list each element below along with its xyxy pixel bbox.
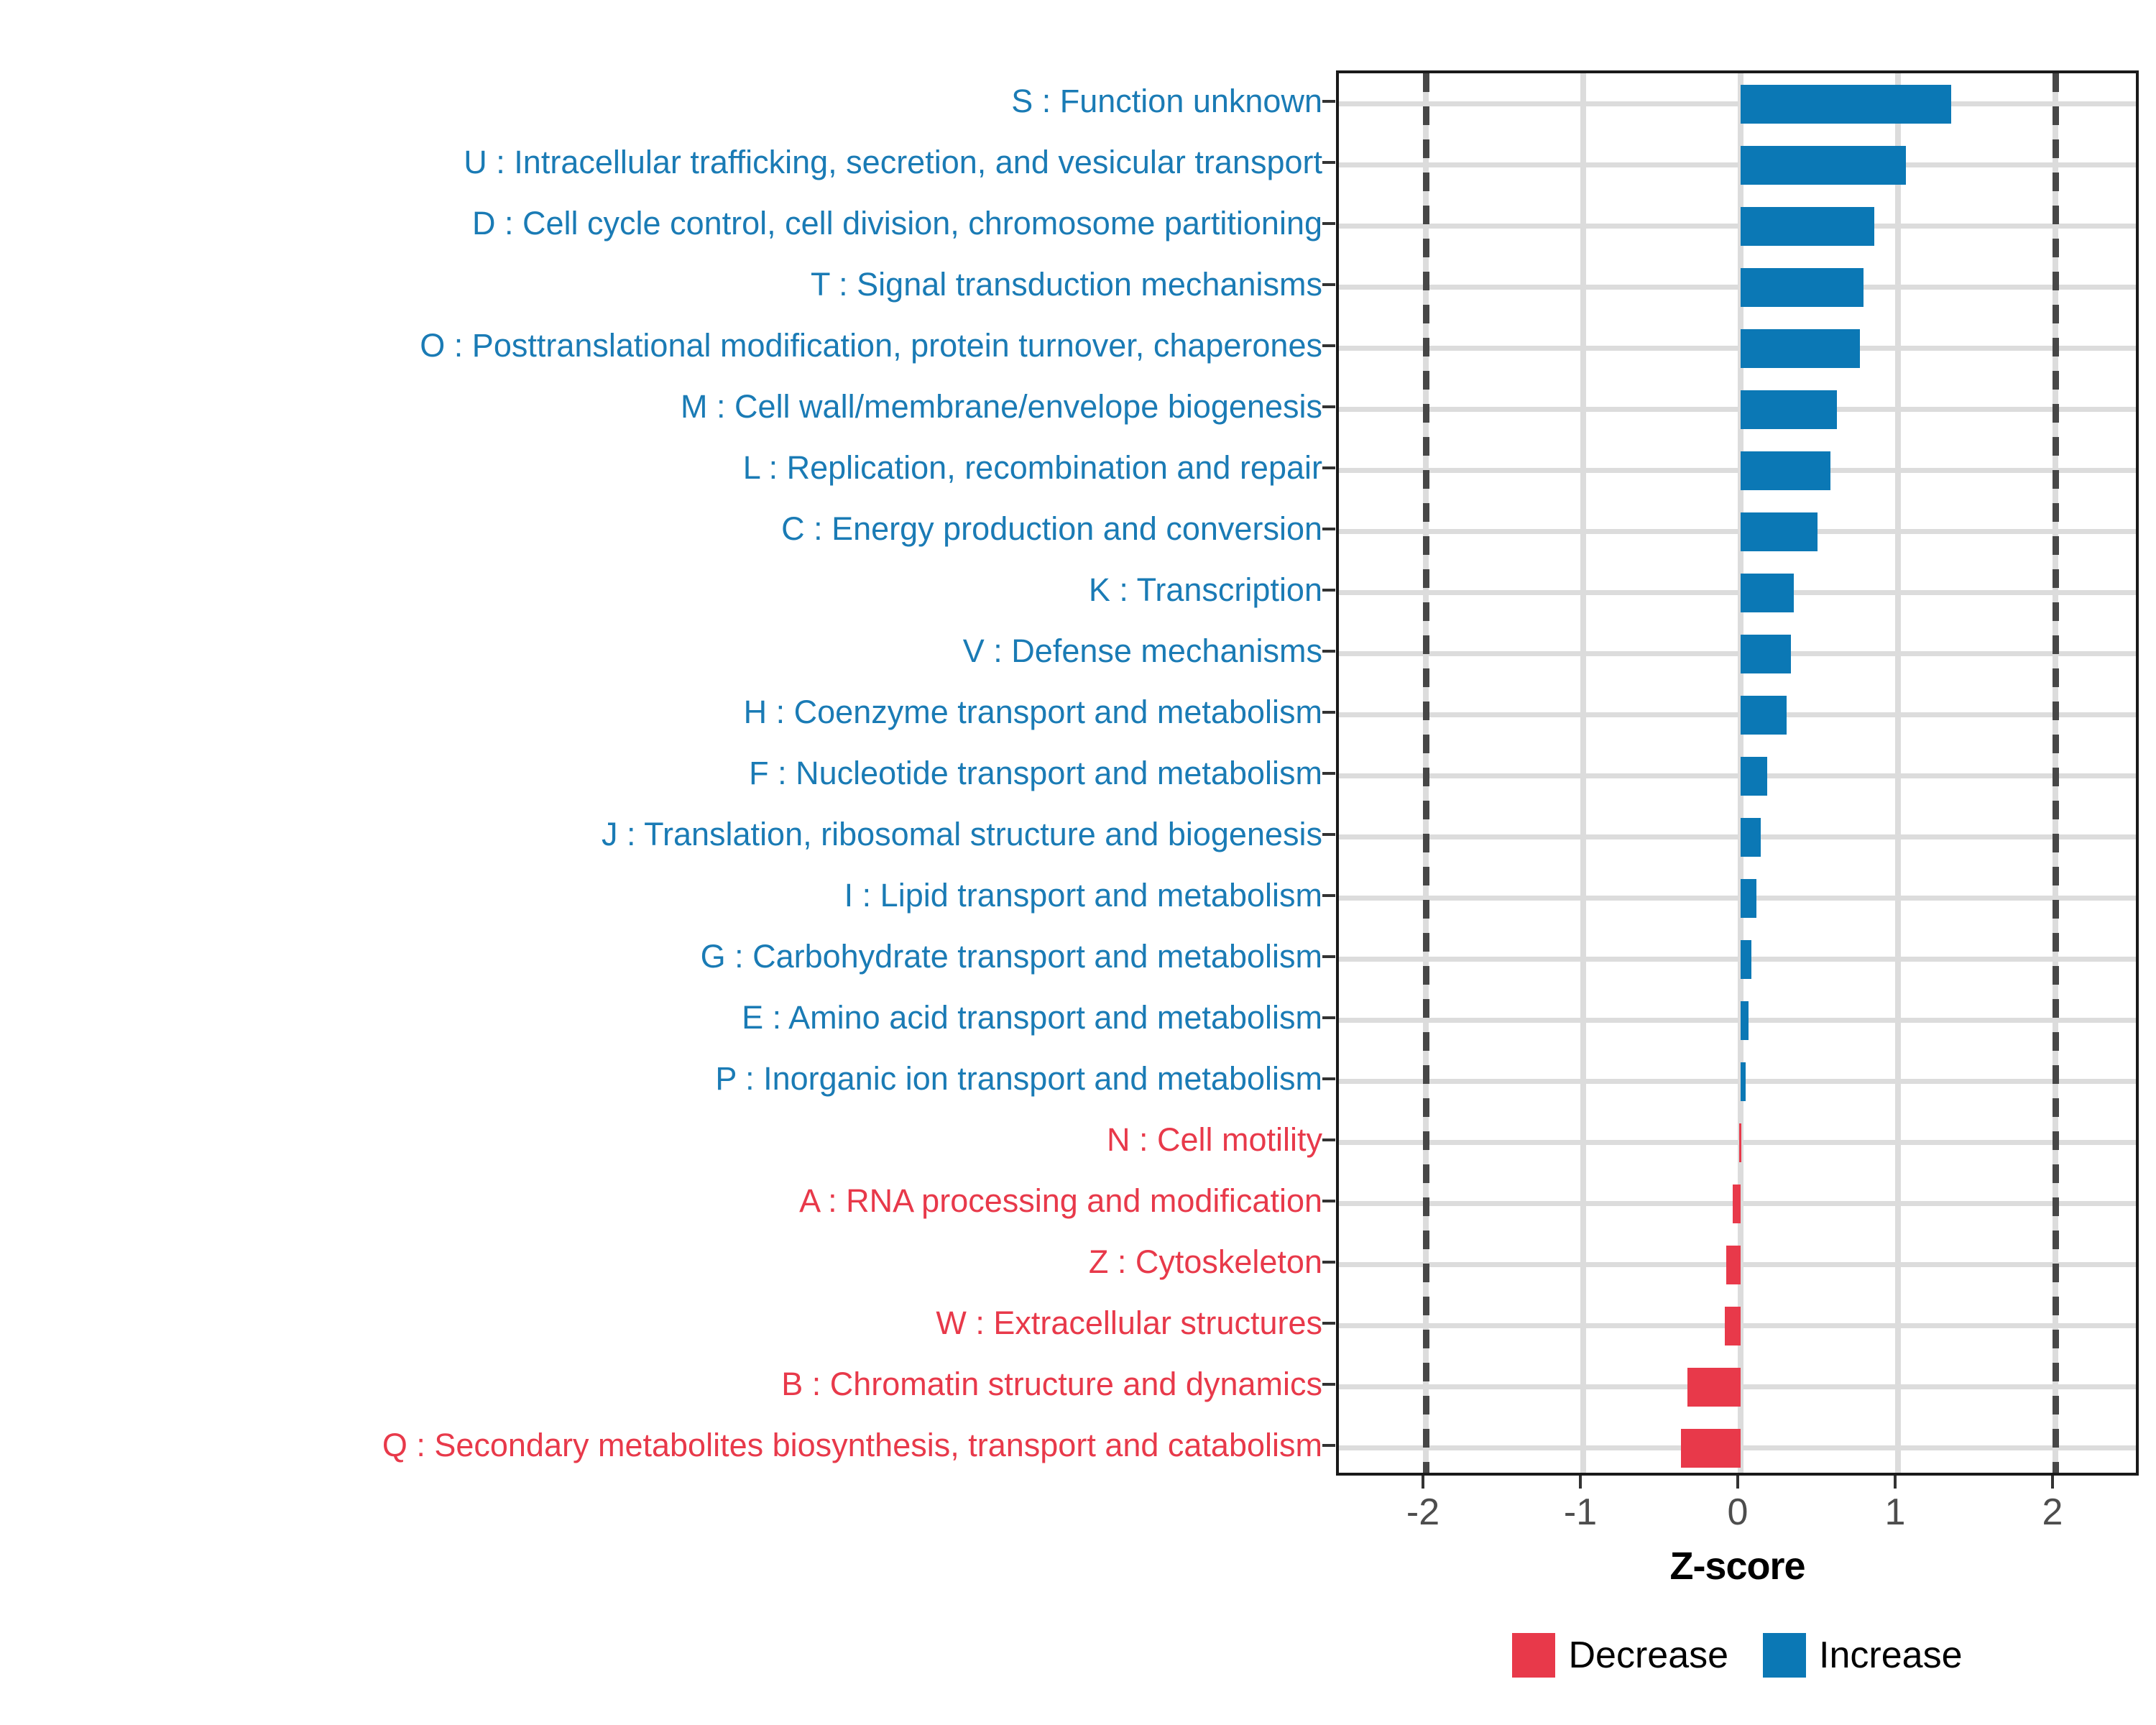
category-label: Q : Secondary metabolites biosynthesis, … bbox=[0, 1427, 1322, 1464]
category-label: O : Posttranslational modification, prot… bbox=[0, 327, 1322, 364]
y-axis-tick bbox=[1322, 1444, 1335, 1447]
y-axis-tick bbox=[1322, 1322, 1335, 1325]
y-axis-tick bbox=[1322, 466, 1335, 469]
bar bbox=[1687, 1368, 1741, 1407]
y-axis-tick bbox=[1322, 711, 1335, 714]
y-axis-tick bbox=[1322, 650, 1335, 653]
bar bbox=[1741, 757, 1767, 796]
category-label: Z : Cytoskeleton bbox=[0, 1243, 1322, 1281]
y-axis-tick bbox=[1322, 405, 1335, 408]
bar bbox=[1741, 574, 1794, 612]
y-axis-tick bbox=[1322, 222, 1335, 225]
bar bbox=[1741, 879, 1756, 918]
y-axis-tick bbox=[1322, 1016, 1335, 1019]
bar bbox=[1741, 818, 1761, 857]
reference-line bbox=[1423, 73, 1429, 1473]
gridline-vertical bbox=[1895, 73, 1901, 1473]
bar bbox=[1725, 1307, 1741, 1345]
category-label: B : Chromatin structure and dynamics bbox=[0, 1366, 1322, 1403]
legend-label: Increase bbox=[1819, 1634, 1962, 1677]
x-axis-tick-label: 2 bbox=[1995, 1491, 2110, 1534]
category-label: N : Cell motility bbox=[0, 1121, 1322, 1159]
bar bbox=[1733, 1184, 1741, 1223]
x-axis-title: Z-score bbox=[1336, 1544, 2139, 1588]
plot-panel bbox=[1336, 70, 2139, 1476]
legend-item[interactable]: Increase bbox=[1763, 1633, 1962, 1678]
y-axis-tick bbox=[1322, 1077, 1335, 1080]
bar bbox=[1741, 268, 1864, 307]
category-label: I : Lipid transport and metabolism bbox=[0, 877, 1322, 914]
bar bbox=[1741, 85, 1951, 124]
chart-legend: DecreaseIncrease bbox=[1336, 1633, 2139, 1678]
category-label: M : Cell wall/membrane/envelope biogenes… bbox=[0, 388, 1322, 425]
chart-figure: S : Function unknownU : Intracellular tr… bbox=[0, 0, 2156, 1725]
y-axis-tick bbox=[1322, 1383, 1335, 1386]
y-axis-tick bbox=[1322, 772, 1335, 775]
bar bbox=[1739, 1123, 1741, 1162]
legend-item[interactable]: Decrease bbox=[1512, 1633, 1728, 1678]
bar bbox=[1741, 696, 1787, 735]
legend-swatch bbox=[1512, 1633, 1555, 1678]
x-axis-tick bbox=[1736, 1476, 1739, 1489]
bar bbox=[1741, 451, 1830, 490]
y-axis-tick bbox=[1322, 894, 1335, 897]
y-axis-tick bbox=[1322, 1200, 1335, 1202]
category-label: G : Carbohydrate transport and metabolis… bbox=[0, 938, 1322, 975]
x-axis-tick-label: -2 bbox=[1365, 1491, 1480, 1534]
y-axis-tick bbox=[1322, 955, 1335, 958]
category-label: W : Extracellular structures bbox=[0, 1305, 1322, 1342]
category-label: H : Coenzyme transport and metabolism bbox=[0, 694, 1322, 731]
y-axis-tick bbox=[1322, 589, 1335, 592]
bar bbox=[1741, 512, 1818, 551]
category-label: T : Signal transduction mechanisms bbox=[0, 266, 1322, 303]
category-label: E : Amino acid transport and metabolism bbox=[0, 999, 1322, 1036]
x-axis-tick bbox=[1422, 1476, 1424, 1489]
bar bbox=[1741, 940, 1751, 979]
bar bbox=[1741, 207, 1874, 246]
y-axis-tick bbox=[1322, 528, 1335, 530]
category-label: P : Inorganic ion transport and metaboli… bbox=[0, 1060, 1322, 1098]
category-label: J : Translation, ribosomal structure and… bbox=[0, 816, 1322, 853]
legend-label: Decrease bbox=[1568, 1634, 1728, 1677]
bar bbox=[1741, 329, 1860, 368]
y-axis-tick bbox=[1322, 100, 1335, 103]
bar bbox=[1741, 1062, 1746, 1101]
x-axis-tick-label: 0 bbox=[1680, 1491, 1795, 1534]
x-axis-tick bbox=[1894, 1476, 1897, 1489]
category-label: A : RNA processing and modification bbox=[0, 1182, 1322, 1220]
bar bbox=[1741, 635, 1791, 673]
category-label: U : Intracellular trafficking, secretion… bbox=[0, 144, 1322, 181]
category-label: C : Energy production and conversion bbox=[0, 510, 1322, 548]
y-axis-tick bbox=[1322, 833, 1335, 836]
category-label: V : Defense mechanisms bbox=[0, 632, 1322, 670]
reference-line bbox=[2053, 73, 2059, 1473]
category-label: F : Nucleotide transport and metabolism bbox=[0, 755, 1322, 792]
legend-swatch bbox=[1763, 1633, 1806, 1678]
y-axis-tick bbox=[1322, 161, 1335, 164]
bar bbox=[1681, 1429, 1741, 1468]
x-axis-tick-label: 1 bbox=[1838, 1491, 1953, 1534]
category-label: K : Transcription bbox=[0, 571, 1322, 609]
category-label: S : Function unknown bbox=[0, 83, 1322, 120]
y-axis-tick bbox=[1322, 283, 1335, 286]
x-axis-tick bbox=[2051, 1476, 2054, 1489]
bar bbox=[1741, 1001, 1749, 1040]
category-label: L : Replication, recombination and repai… bbox=[0, 449, 1322, 487]
gridline-vertical bbox=[1580, 73, 1586, 1473]
bar bbox=[1726, 1246, 1741, 1284]
bar bbox=[1741, 146, 1906, 185]
category-label: D : Cell cycle control, cell division, c… bbox=[0, 205, 1322, 242]
category-axis-labels: S : Function unknownU : Intracellular tr… bbox=[0, 70, 1322, 1476]
x-axis-tick bbox=[1579, 1476, 1582, 1489]
y-axis-tick bbox=[1322, 1138, 1335, 1141]
y-axis-tick bbox=[1322, 344, 1335, 347]
y-axis-tick bbox=[1322, 1261, 1335, 1264]
x-axis-tick-label: -1 bbox=[1523, 1491, 1638, 1534]
bar bbox=[1741, 390, 1837, 429]
